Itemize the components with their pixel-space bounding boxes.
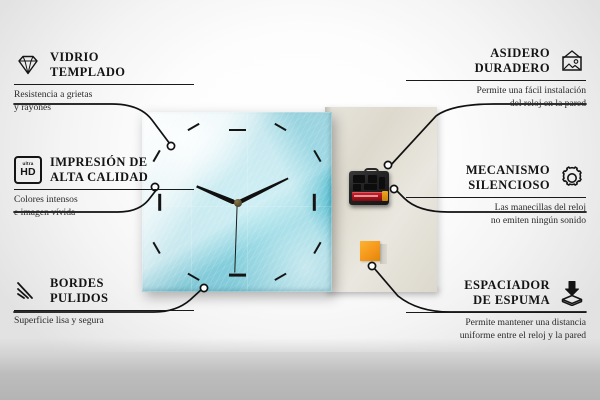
feature-title-line1: IMPRESIÓN DE xyxy=(50,155,148,169)
feature-title-line2: DE ESPUMA xyxy=(473,293,550,307)
feature-desc-line1: Permite una fácil instalación xyxy=(477,85,587,96)
feature-title-line2: ALTA CALIDAD xyxy=(50,170,148,184)
feature-desc-line2: uniforme entre el reloj y la pared xyxy=(460,330,586,341)
diamond-icon xyxy=(14,51,42,79)
feature-title-line2: PULIDOS xyxy=(50,291,108,305)
feature-title-line1: ESPACIADOR xyxy=(464,278,550,292)
wall-hanger-icon xyxy=(558,47,586,75)
feature-impresion-alta-calidad: ultra HD IMPRESIÓN DE ALTA CALIDAD Color… xyxy=(14,155,194,219)
feature-espaciador-de-espuma: ESPACIADOR DE ESPUMA Permite mantener un… xyxy=(406,278,586,342)
feature-title-line2: TEMPLADO xyxy=(50,65,125,79)
feature-asidero-duradero: ASIDERO DURADERO Permite una fácil insta… xyxy=(406,46,586,110)
feature-desc-line2: no emiten ningún sonido xyxy=(491,215,586,226)
feature-title-line1: ASIDERO xyxy=(490,46,550,60)
connector-dot-espaciador xyxy=(368,262,375,269)
feature-desc-line2: y rayones xyxy=(14,102,51,113)
feature-desc-line2: del reloj en la pared xyxy=(510,98,586,109)
feature-desc-line1: Las manecillas del reloj xyxy=(495,202,586,213)
feature-mecanismo-silencioso: MECANISMO SILENCIOSO Las manecillas del … xyxy=(406,163,586,227)
foam-spacer-icon xyxy=(558,279,586,307)
infographic-canvas: VIDRIO TEMPLADO Resistencia a grietas y … xyxy=(0,0,600,400)
feature-divider xyxy=(406,312,586,313)
connector-dot-mecanismo xyxy=(390,185,397,192)
feature-desc-line1: Permite mantener una distancia xyxy=(465,317,586,328)
feature-bordes-pulidos: BORDES PULIDOS Superficie lisa y segura xyxy=(14,276,194,328)
connector-dot-vidrio xyxy=(167,142,174,149)
feature-title-line1: MECANISMO xyxy=(466,163,550,177)
connector-dot-asidero xyxy=(384,161,391,168)
feature-divider xyxy=(406,80,586,81)
connector-dot-bordes xyxy=(200,284,207,291)
feature-title-line1: BORDES xyxy=(50,276,104,290)
polished-edges-icon xyxy=(14,277,42,305)
feature-desc-line1: Resistencia a grietas xyxy=(14,89,92,100)
feature-desc-line1: Superficie lisa y segura xyxy=(14,315,104,326)
ultra-hd-icon: ultra HD xyxy=(14,156,42,184)
feature-title-line2: DURADERO xyxy=(475,61,550,75)
feature-desc-line1: Colores intensos xyxy=(14,194,78,205)
feature-vidrio-templado: VIDRIO TEMPLADO Resistencia a grietas y … xyxy=(14,50,194,114)
feature-title-line2: SILENCIOSO xyxy=(468,178,550,192)
feature-desc-line2: e imagen vívida xyxy=(14,207,75,218)
feature-divider xyxy=(14,189,194,190)
feature-title-line1: VIDRIO xyxy=(50,50,99,64)
gear-icon xyxy=(558,164,586,192)
feature-divider xyxy=(406,197,586,198)
feature-divider xyxy=(14,84,194,85)
ultra-hd-icon-main-text: HD xyxy=(20,167,36,178)
feature-divider xyxy=(14,310,194,311)
